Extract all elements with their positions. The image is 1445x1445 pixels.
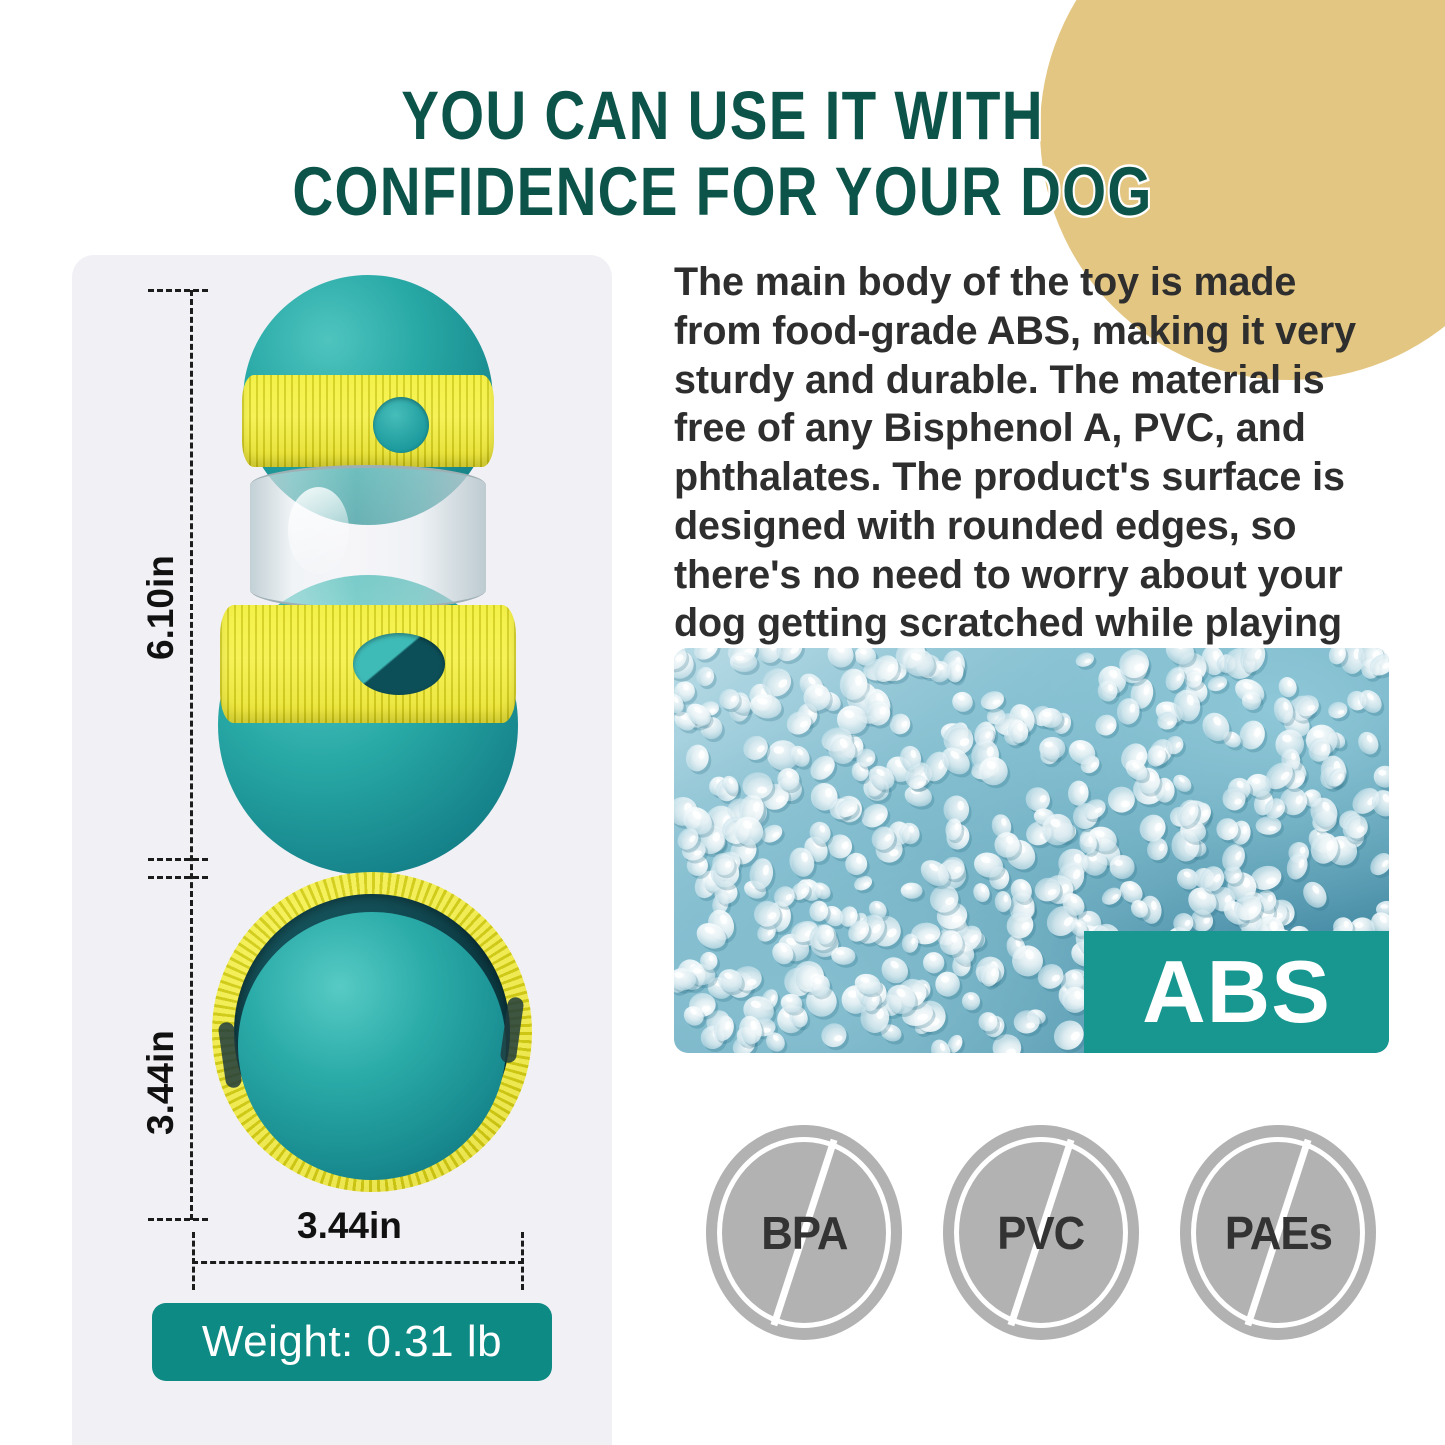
dimension-label-ball-height: 3.44in [140, 1030, 182, 1135]
free-of-badges: BPA PVC PAEs [706, 1125, 1376, 1340]
dimension-label-width: 3.44in [297, 1205, 402, 1247]
abs-label-tag: ABS [1084, 931, 1389, 1053]
abs-material-image: ABS [674, 648, 1389, 1053]
no-bpa-badge: BPA [706, 1125, 902, 1340]
product-dome [238, 912, 506, 1180]
page-title-line-1: YOU CAN USE IT WITH [130, 82, 1315, 150]
description-paragraph: The main body of the toy is made from fo… [674, 258, 1392, 697]
dimension-tick-mid-lower [148, 876, 208, 879]
no-paes-badge: PAEs [1180, 1125, 1376, 1340]
product-top-dial [373, 397, 429, 453]
abs-label-text: ABS [1142, 948, 1331, 1036]
dimension-cap-left [192, 1232, 195, 1290]
dimension-label-total-height: 6.10in [140, 555, 182, 660]
product-top-band [242, 375, 494, 467]
dimension-cap-right [521, 1232, 524, 1290]
product-clear-window [250, 465, 486, 610]
dimension-line-vertical [190, 290, 193, 1220]
page-title: YOU CAN USE IT WITH CONFIDENCE FOR YOUR … [0, 82, 1445, 225]
no-pvc-label: PVC [997, 1206, 1084, 1260]
product-image-side-view [198, 275, 538, 850]
dimension-tick-mid-upper [148, 858, 208, 861]
page-title-line-2: CONFIDENCE FOR YOUR DOG [130, 158, 1315, 226]
no-bpa-label: BPA [761, 1206, 847, 1260]
product-treat-opening [353, 633, 445, 695]
dimension-tick-bottom [148, 1218, 208, 1221]
dimension-line-horizontal [192, 1261, 524, 1264]
no-pvc-badge: PVC [943, 1125, 1139, 1340]
dimension-cap-top [148, 289, 208, 292]
no-paes-label: PAEs [1224, 1206, 1331, 1260]
weight-badge-label: Weight: 0.31 lb [202, 1317, 502, 1367]
weight-badge: Weight: 0.31 lb [152, 1303, 552, 1381]
product-image-bottom-view [212, 872, 532, 1192]
